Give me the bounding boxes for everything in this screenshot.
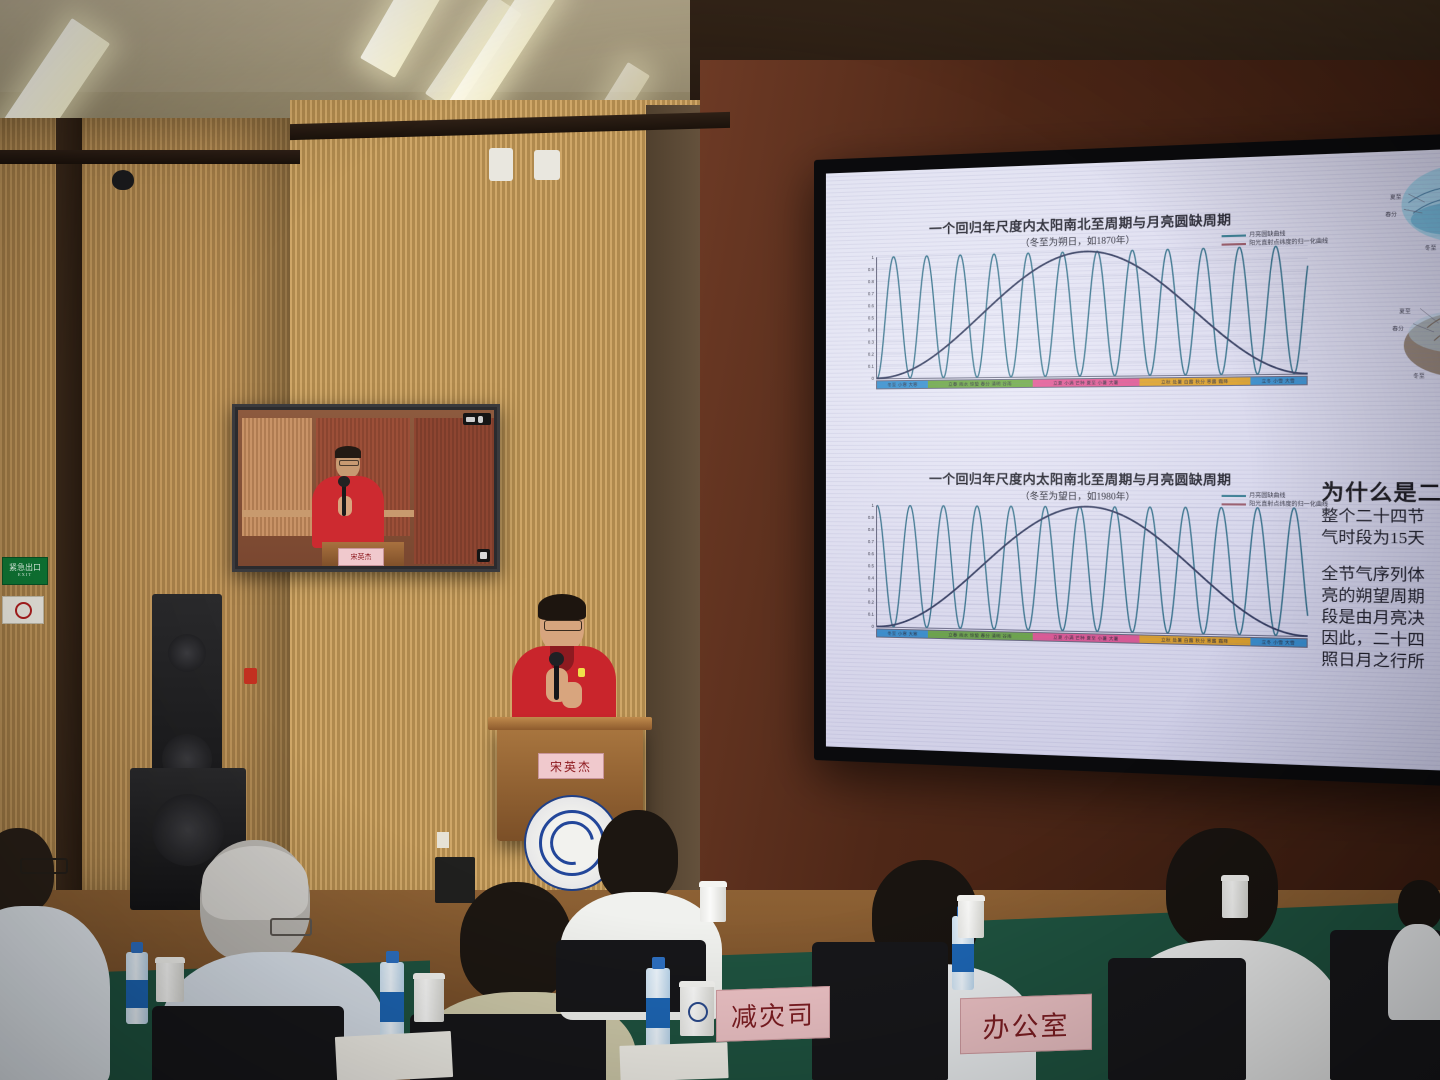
podium-nameplate: 宋英杰 xyxy=(538,753,604,779)
fire-alarm-icon xyxy=(244,668,257,684)
eyeglasses-icon xyxy=(270,918,312,936)
monitor-screen: 宋英杰 xyxy=(238,410,494,566)
slide-heading: 为什么是二 xyxy=(1321,475,1440,507)
solar-term-segment: 立秋 处暑 白露 秋分 寒露 霜降 xyxy=(1140,377,1250,385)
y-tick-label: 0.4 xyxy=(868,327,874,332)
desk-nameplate-jianzaisi: 减灾司 xyxy=(716,986,830,1042)
chart-y-axis: 10.90.80.70.60.50.40.30.20.10 xyxy=(860,257,874,378)
svg-text:冬至: 冬至 xyxy=(1413,372,1425,380)
svg-text:春分: 春分 xyxy=(1385,211,1397,219)
moon-phase-curve xyxy=(877,245,1308,378)
svg-text:夏至: 夏至 xyxy=(1390,194,1402,201)
y-tick-label: 0.2 xyxy=(868,600,874,605)
y-tick-label: 0.4 xyxy=(868,575,874,580)
tea-cup xyxy=(680,986,714,1036)
recording-indicator-icon xyxy=(477,549,490,562)
wall-notice-plaque xyxy=(2,596,44,624)
bottle-label xyxy=(952,944,974,972)
solar-term-segment: 立夏 小满 芒种 夏至 小暑 大暑 xyxy=(1032,379,1139,387)
y-tick-label: 0.5 xyxy=(868,315,874,320)
y-tick-label: 0.6 xyxy=(868,303,874,308)
chart-title: 一个回归年尺度内太阳南北至周期与月亮圆缺周期 xyxy=(860,468,1308,489)
cup-lid xyxy=(957,895,985,901)
audience-member xyxy=(0,828,106,1080)
dome-camera-icon xyxy=(112,170,134,190)
wall-dark-column xyxy=(56,118,82,898)
head xyxy=(598,810,678,902)
audience-member xyxy=(1396,880,1440,1010)
tea-cup xyxy=(958,900,984,938)
chart-plot-area xyxy=(876,505,1308,637)
lapel-pin-icon xyxy=(578,668,585,677)
head xyxy=(1398,880,1440,930)
chart-legend: 月亮圆缺曲线 阳光直射点纬度的归一化曲线 xyxy=(1221,492,1328,510)
monitor-nameplate-label: 宋英杰 xyxy=(351,552,372,562)
projected-slide: 一个回归年尺度内太阳南北至周期与月亮圆缺周期 （冬至为朔日，如1870年） 月亮… xyxy=(826,148,1440,773)
microphone-icon xyxy=(554,660,559,700)
slide-right-text: 为什么是二 整个二十四节 气时段为15天 全节气序列体 亮的朔望周期 段是由月亮… xyxy=(1321,475,1440,675)
water-bottle xyxy=(126,952,148,1024)
y-tick-label: 0.3 xyxy=(868,340,874,345)
cup-logo-icon xyxy=(688,1002,708,1022)
monitor-nameplate: 宋英杰 xyxy=(338,548,384,566)
camera-mic-indicator-icon xyxy=(463,413,491,425)
chart-curves xyxy=(877,505,1308,636)
svg-text:夏至: 夏至 xyxy=(1399,309,1411,316)
y-tick-label: 0.5 xyxy=(868,563,874,568)
legend-label: 月亮圆缺曲线 xyxy=(1249,492,1285,501)
y-tick-label: 0.6 xyxy=(868,551,874,556)
cup-lid xyxy=(699,881,727,887)
eyeglasses-icon xyxy=(20,858,68,874)
tea-cup xyxy=(1222,880,1248,918)
chair-back xyxy=(812,942,948,1080)
y-tick-label: 0 xyxy=(872,376,874,381)
chart-plot-area xyxy=(876,245,1308,379)
solar-term-segment: 立秋 处暑 白露 秋分 寒露 霜降 xyxy=(1140,635,1250,645)
y-tick-label: 0.1 xyxy=(868,364,874,369)
svg-text:春分: 春分 xyxy=(1392,325,1404,333)
chart-winter-solstice-full-moon: 一个回归年尺度内太阳南北至周期与月亮圆缺周期 （冬至为望日，如1980年） 月亮… xyxy=(860,468,1308,649)
y-tick-label: 0.8 xyxy=(868,527,874,532)
y-tick-label: 0.1 xyxy=(868,612,874,617)
chair-back xyxy=(152,1006,344,1080)
slide-paragraph-line: 照日月之行所 xyxy=(1321,649,1440,675)
bottle-label xyxy=(380,992,404,1022)
podium-nameplate-label: 宋英杰 xyxy=(550,758,592,775)
solar-term-segment: 冬至 小寒 大寒 xyxy=(877,629,928,637)
chart-curves xyxy=(877,245,1308,378)
wall-sensor-icon xyxy=(534,150,560,180)
desk-nameplate-label: 办公室 xyxy=(983,1003,1070,1045)
notepad xyxy=(619,1042,728,1080)
emergency-exit-sign: 紧急出口 EXIT xyxy=(2,557,48,585)
notepad xyxy=(335,1031,453,1080)
microphone-head-icon xyxy=(549,652,564,666)
water-bottle xyxy=(646,968,670,1048)
wall-sensor-icon xyxy=(489,148,513,181)
speaker-hand xyxy=(562,682,582,708)
y-tick-label: 1 xyxy=(872,255,874,260)
cup-lid xyxy=(1221,875,1249,881)
podium-top-surface xyxy=(488,717,652,730)
exit-sign-label: 紧急出口 xyxy=(9,564,41,572)
y-tick-label: 0.7 xyxy=(868,291,874,296)
video-feed-monitor[interactable]: 宋英杰 xyxy=(232,404,500,572)
wall-outlet-icon xyxy=(437,832,449,848)
y-tick-label: 0.8 xyxy=(868,279,874,284)
microphone-icon xyxy=(342,482,346,516)
speaker-cone-icon xyxy=(168,634,206,672)
moon-phase-curve xyxy=(877,505,1308,636)
y-tick-label: 0 xyxy=(872,624,874,629)
tea-cup xyxy=(156,962,184,1002)
slide-paragraph-line: 整个二十四节 xyxy=(1321,506,1440,529)
cup-lid xyxy=(155,957,185,963)
y-tick-label: 0.2 xyxy=(868,352,874,357)
bottle-label xyxy=(126,980,148,1008)
tea-cup xyxy=(700,886,726,922)
desk-nameplate-label: 减灾司 xyxy=(731,994,815,1034)
solar-term-segment: 立夏 小满 芒种 夏至 小暑 大暑 xyxy=(1032,633,1139,643)
projection-screen[interactable]: 一个回归年尺度内太阳南北至周期与月亮圆缺周期 （冬至为朔日，如1870年） 月亮… xyxy=(814,132,1440,788)
water-bottle xyxy=(380,962,404,1042)
y-tick-label: 0.3 xyxy=(868,587,874,592)
y-tick-label: 0.7 xyxy=(868,539,874,544)
eyeglasses-icon xyxy=(544,620,582,631)
solar-term-segment: 冬至 小寒 大寒 xyxy=(877,381,928,389)
sun-declination-curve xyxy=(877,505,1308,636)
shirt xyxy=(0,906,110,1080)
notice-icon xyxy=(15,602,32,619)
slide-paragraph-line: 全节气序列体 xyxy=(1321,564,1440,588)
solar-term-segment: 立冬 小雪 大雪 xyxy=(1250,377,1306,385)
solar-term-segment: 立冬 小雪 大雪 xyxy=(1250,638,1306,647)
slide-paragraph-line: 气时段为15天 xyxy=(1321,527,1440,550)
microphone-head-icon xyxy=(338,476,350,487)
desk-nameplate-bangongshi: 办公室 xyxy=(960,994,1092,1055)
chair-back xyxy=(1108,958,1246,1080)
y-tick-label: 0.9 xyxy=(868,515,874,520)
hair xyxy=(202,846,308,920)
exit-sign-sub: EXIT xyxy=(18,573,32,578)
chart-y-axis: 10.90.80.70.60.50.40.30.20.10 xyxy=(860,505,874,626)
svg-text:冬至: 冬至 xyxy=(1425,244,1437,252)
solar-term-segment: 立春 雨水 惊蛰 春分 清明 谷雨 xyxy=(928,631,1032,641)
sun-declination-curve xyxy=(877,245,1308,378)
bottle-label xyxy=(646,998,670,1028)
y-tick-label: 1 xyxy=(872,503,874,508)
lecture-hall-photo: 紧急出口 EXIT xyxy=(0,0,1440,1080)
cup-lid xyxy=(413,973,445,979)
chart-winter-solstice-new-moon: 一个回归年尺度内太阳南北至周期与月亮圆缺周期 （冬至为朔日，如1870年） 月亮… xyxy=(860,206,1308,391)
tea-cup xyxy=(414,978,444,1022)
solar-term-segment: 立春 雨水 惊蛰 春分 清明 谷雨 xyxy=(928,380,1032,388)
speaker-hair xyxy=(538,594,586,620)
wall-trim-beam xyxy=(0,150,300,164)
celestial-sphere-diagram: 夏至 春分 冬至 夏至 春分 冬至 xyxy=(1374,162,1440,414)
cup-lid xyxy=(679,981,715,987)
y-tick-label: 0.9 xyxy=(868,267,874,272)
shirt xyxy=(1388,924,1440,1020)
